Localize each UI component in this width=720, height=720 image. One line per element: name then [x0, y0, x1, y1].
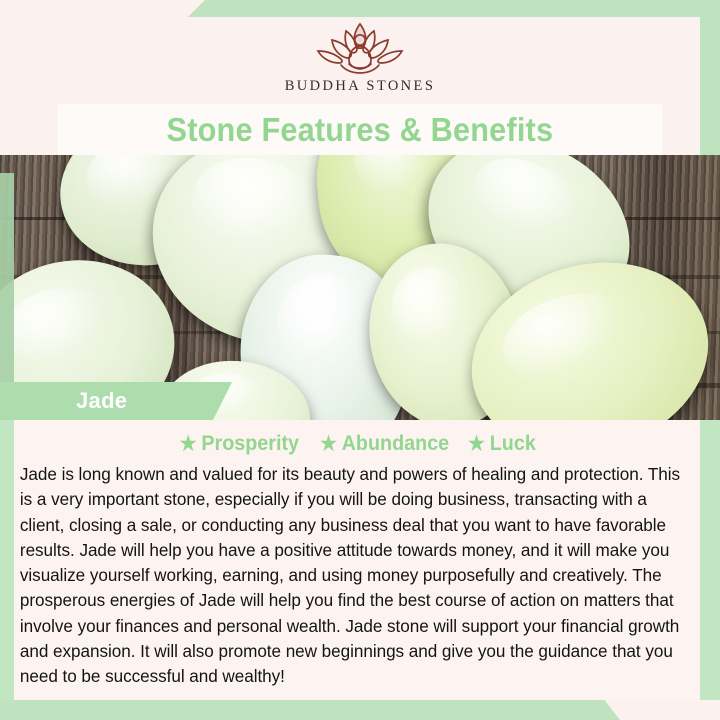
- benefits-row: ★ Prosperity ★ Abundance ★ Luck: [14, 420, 700, 462]
- stone-label-banner: Jade: [0, 382, 232, 420]
- benefit-item: ★ Luck: [468, 432, 536, 456]
- page-title: Stone Features & Benefits: [167, 111, 554, 149]
- lotus-meditation-icon: [308, 18, 412, 76]
- bottom-decorative-band: [0, 698, 720, 720]
- star-icon: ★: [180, 434, 197, 454]
- brand-name: BUDDHA STONES: [285, 78, 436, 95]
- stone-label: Jade: [76, 388, 127, 414]
- benefit-label: Abundance: [341, 432, 448, 456]
- star-icon: ★: [468, 434, 485, 454]
- benefit-label: Prosperity: [201, 432, 299, 456]
- description-frame: ★ Prosperity ★ Abundance ★ Luck Jade is …: [0, 420, 720, 700]
- benefit-label: Luck: [490, 432, 536, 456]
- benefit-item: ★ Abundance: [320, 432, 449, 456]
- photo-left-accent: [0, 173, 14, 401]
- stone-photo: [0, 155, 720, 420]
- brand-logo: BUDDHA STONES: [0, 18, 720, 104]
- title-banner: Stone Features & Benefits: [58, 104, 662, 155]
- benefit-item: ★ Prosperity: [180, 432, 299, 456]
- description-text: Jade is long known and valued for its be…: [14, 462, 690, 690]
- star-icon: ★: [320, 434, 337, 454]
- infographic-page: BUDDHA STONES Stone Features & Benefits: [0, 0, 720, 720]
- top-decorative-band: [0, 0, 720, 17]
